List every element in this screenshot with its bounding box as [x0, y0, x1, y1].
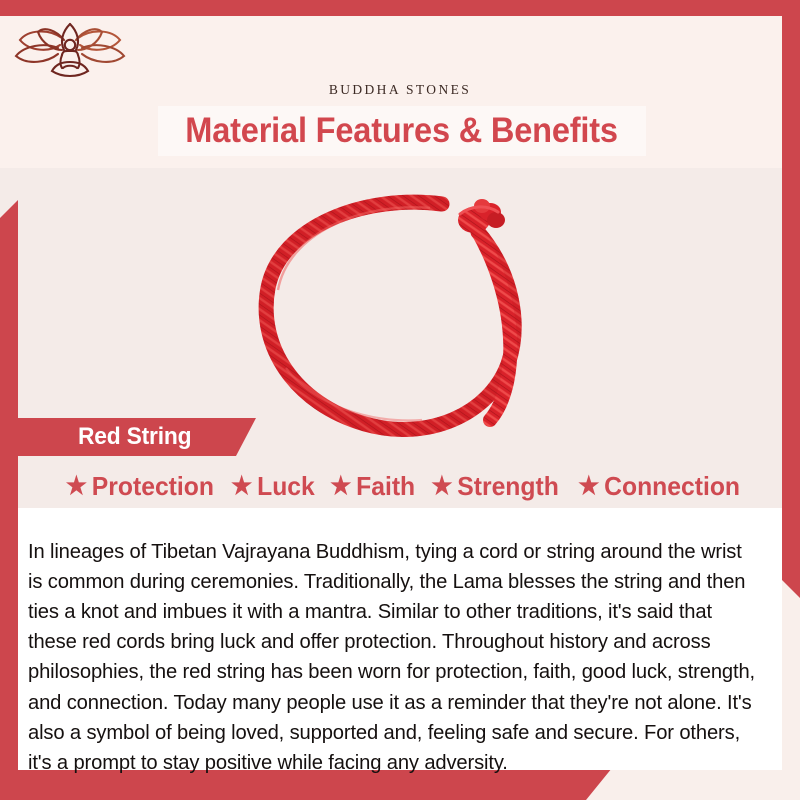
product-image — [160, 168, 640, 458]
description-panel: In lineages of Tibetan Vajrayana Buddhis… — [18, 508, 782, 770]
material-tag: Red String — [18, 418, 256, 456]
brand-name: BUDDHA STONES — [0, 82, 800, 98]
page-title: Material Features & Benefits — [186, 111, 619, 151]
lotus-meditation-icon — [0, 18, 800, 80]
benefits-row: ★ Protection ★ Luck ★ Faith ★ Strength ★… — [18, 466, 782, 506]
headline-band: Material Features & Benefits — [158, 106, 646, 156]
poster-root: BUDDHA STONES Material Features & Benefi… — [0, 0, 800, 800]
description-text: In lineages of Tibetan Vajrayana Buddhis… — [28, 537, 757, 779]
benefit-label: Connection — [604, 471, 740, 502]
star-icon: ★ — [231, 474, 252, 499]
brand-logo: BUDDHA STONES — [0, 16, 800, 98]
star-icon: ★ — [66, 474, 87, 499]
decorative-top-bar — [0, 0, 800, 16]
benefit-item: ★ Luck — [225, 471, 314, 502]
benefit-item: ★ Strength — [426, 471, 559, 502]
star-icon: ★ — [432, 474, 453, 499]
benefit-label: Faith — [356, 471, 415, 502]
benefit-label: Luck — [257, 471, 315, 502]
benefit-item: ★ Faith — [324, 471, 415, 502]
star-icon: ★ — [578, 474, 599, 499]
star-icon: ★ — [330, 474, 351, 499]
benefit-label: Protection — [92, 471, 214, 502]
benefit-item: ★ Connection — [572, 471, 740, 502]
benefit-label: Strength — [458, 471, 560, 502]
material-tag-label: Red String — [78, 423, 191, 451]
benefit-item: ★ Protection — [60, 471, 214, 502]
decorative-left-band — [0, 200, 18, 800]
